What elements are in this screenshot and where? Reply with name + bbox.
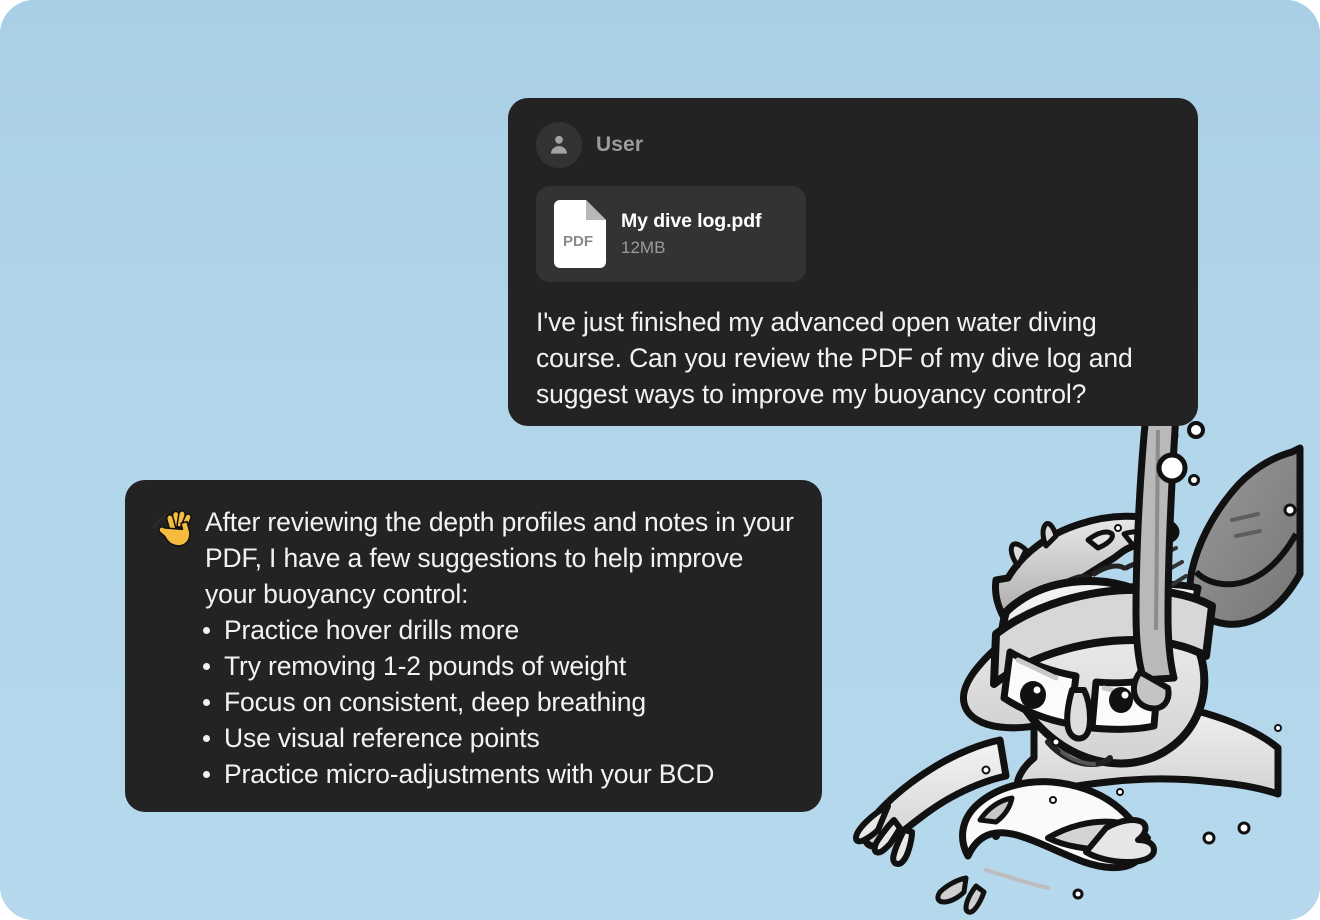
list-item: Practice micro-adjustments with your BCD bbox=[201, 756, 798, 792]
attachment-file-size: 12MB bbox=[621, 238, 761, 258]
screenshot-canvas: User PDF My dive log.pdf 12MB I've just … bbox=[0, 0, 1320, 920]
user-message-bubble: User PDF My dive log.pdf 12MB I've just … bbox=[508, 98, 1198, 426]
attachment-file-name: My dive log.pdf bbox=[621, 210, 761, 233]
user-author-label: User bbox=[596, 133, 643, 157]
user-message-header: User bbox=[536, 122, 1172, 168]
pdf-attachment-card[interactable]: PDF My dive log.pdf 12MB bbox=[536, 186, 806, 282]
person-avatar-icon bbox=[536, 122, 582, 168]
list-item: Focus on consistent, deep breathing bbox=[201, 684, 798, 720]
list-item: Use visual reference points bbox=[201, 720, 798, 756]
user-message-text: I've just finished my advanced open wate… bbox=[536, 304, 1172, 412]
assistant-intro-text: After reviewing the depth profiles and n… bbox=[205, 504, 798, 612]
suggestion-list: Practice hover drills more Try removing … bbox=[151, 612, 798, 792]
assistant-message-bubble: After reviewing the depth profiles and n… bbox=[125, 480, 822, 812]
list-item: Practice hover drills more bbox=[201, 612, 798, 648]
pdf-file-icon: PDF bbox=[550, 200, 606, 268]
waving-hand-emoji bbox=[151, 507, 205, 551]
pdf-icon-label: PDF bbox=[563, 233, 593, 250]
list-item: Try removing 1-2 pounds of weight bbox=[201, 648, 798, 684]
